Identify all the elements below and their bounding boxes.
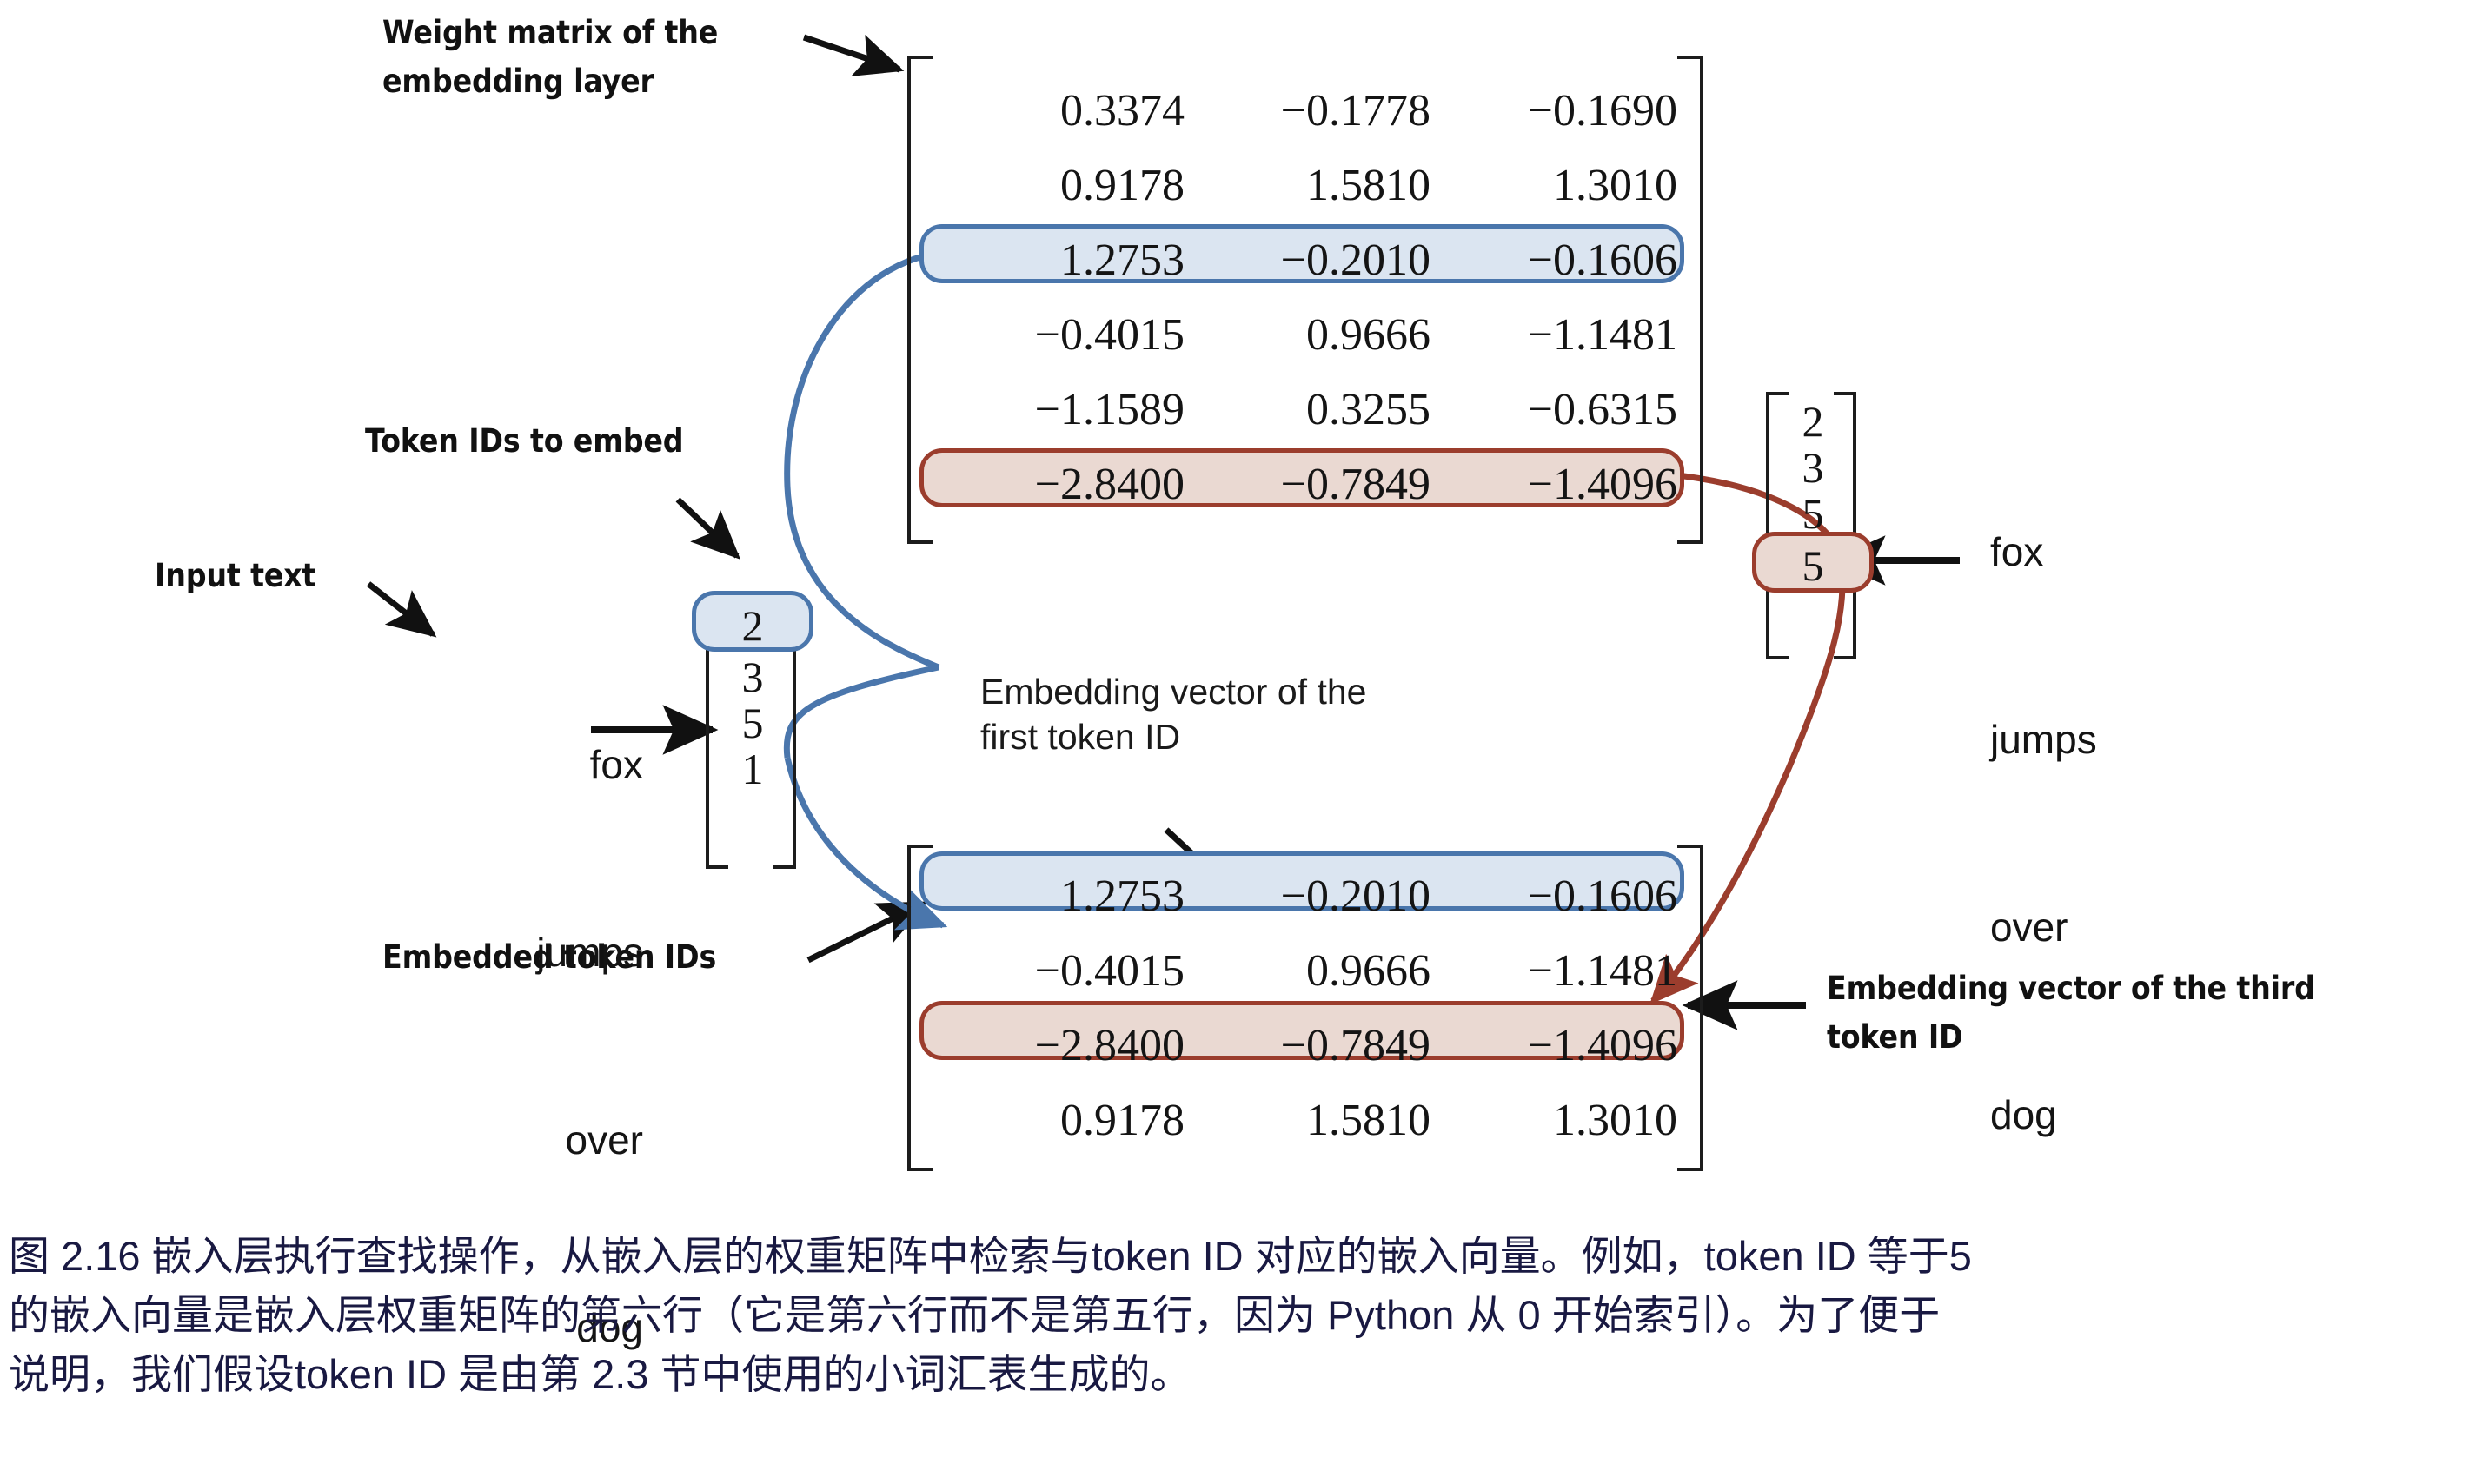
matrix-row: −2.8400 −0.7849 −1.4096 [939,447,1677,521]
matrix-row: 1.2753 −0.2010 −0.1606 [939,858,1677,933]
matrix-cell: −0.4015 [939,309,1185,361]
highlight-input-token-id-value: 2 [692,603,813,649]
token-id: 1 [700,746,805,792]
matrix-cell: 0.3374 [939,85,1185,136]
matrix-cell: −0.1778 [1185,85,1430,136]
embedded-matrix: 1.2753 −0.2010 −0.1606 −0.4015 0.9666 −1… [904,839,1712,1169]
input-word: jumps [417,921,643,984]
matrix-row: −2.8400 −0.7849 −1.4096 [939,1008,1677,1083]
label-weight-matrix: Weight matrix of the embedding layer [382,9,718,106]
matrix-cell: −0.7849 [1185,459,1430,510]
arrow-token-ids-to-embed [678,500,737,556]
label-embedding-vector-first: Embedding vector of the first token ID [980,669,1366,759]
matrix-cell: −2.8400 [939,1020,1185,1071]
matrix-row: −0.4015 0.9666 −1.1481 [939,933,1677,1008]
matrix-cell: −0.1606 [1430,235,1677,286]
matrix-row: −0.4015 0.9666 −1.1481 [939,297,1677,372]
matrix-row: 0.3374 −0.1778 −0.1690 [939,73,1677,148]
matrix-cell: −2.8400 [939,459,1185,510]
caption-line: 图 2.16 嵌入层执行查找操作，从嵌入层的权重矩阵中检索与token ID 对… [9,1227,2484,1286]
matrix-cell: −1.1481 [1430,945,1677,997]
matrix-cell: 1.2753 [939,871,1185,922]
matrix-row: −1.1589 0.3255 −0.6315 [939,372,1677,447]
right-token-id-vector: 2 3 5 1 [1761,387,1865,656]
matrix-row: 1.2753 −0.2010 −0.1606 [939,222,1677,297]
input-word: over [417,1109,643,1171]
token-id: 3 [700,654,805,700]
token-id: 2 [1761,399,1865,445]
label-input-text: Input text [155,552,315,600]
figure-caption: 图 2.16 嵌入层执行查找操作，从嵌入层的权重矩阵中检索与token ID 对… [9,1227,2484,1404]
caption-line: 说明，我们假设token ID 是由第 2.3 节中使用的小词汇表生成的。 [9,1345,2484,1404]
embedded-matrix-rows: 1.2753 −0.2010 −0.1606 −0.4015 0.9666 −1… [939,858,1677,1157]
caption-line: 的嵌入向量是嵌入层权重矩阵的第六行（它是第六行而不是第五行，因为 Python … [9,1286,2484,1345]
matrix-cell: 1.3010 [1430,160,1677,211]
matrix-cell: 0.3255 [1185,384,1430,435]
right-word: over [1990,896,2277,958]
matrix-cell: 0.9178 [939,160,1185,211]
input-word: fox [417,733,643,796]
matrix-cell: 1.5810 [1185,160,1430,211]
token-id: 5 [1761,491,1865,537]
matrix-cell: 1.3010 [1430,1095,1677,1146]
matrix-cell: −1.4096 [1430,459,1677,510]
matrix-cell: −1.1589 [939,384,1185,435]
label-token-ids-to-embed: Token IDs to embed [365,417,683,466]
matrix-cell: 1.5810 [1185,1095,1430,1146]
matrix-cell: −1.1481 [1430,309,1677,361]
right-word: fox [1990,520,2277,583]
matrix-cell: 1.2753 [939,235,1185,286]
right-word: jumps [1990,708,2277,771]
figure-canvas: Weight matrix of the embedding layer Tok… [0,0,2489,1458]
token-id-highlighted: 5 [1752,543,1874,589]
highlight-right-token-id-value: 5 [1752,543,1874,589]
matrix-cell: 0.9666 [1185,309,1430,361]
arrow-weight-matrix [804,37,899,70]
matrix-cell: 0.9178 [939,1095,1185,1146]
matrix-cell: −0.7849 [1185,1020,1430,1071]
matrix-cell: −1.4096 [1430,1020,1677,1071]
matrix-cell: −0.4015 [939,945,1185,997]
matrix-cell: −0.1606 [1430,871,1677,922]
weight-matrix-rows: 0.3374 −0.1778 −0.1690 0.9178 1.5810 1.3… [939,73,1677,521]
token-id-highlighted: 2 [692,603,813,649]
matrix-cell: −0.2010 [1185,871,1430,922]
matrix-cell: 0.9666 [1185,945,1430,997]
weight-matrix: 0.3374 −0.1778 −0.1690 0.9178 1.5810 1.3… [904,50,1712,542]
matrix-cell: −0.1690 [1430,85,1677,136]
matrix-row: 0.9178 1.5810 1.3010 [939,148,1677,222]
right-word-list: fox jumps over dog [1990,395,2277,1271]
matrix-cell: −0.6315 [1430,384,1677,435]
token-id: 5 [700,700,805,746]
matrix-cell: −0.2010 [1185,235,1430,286]
token-id: 3 [1761,445,1865,491]
right-word: dog [1990,1083,2277,1146]
matrix-row: 0.9178 1.5810 1.3010 [939,1083,1677,1157]
